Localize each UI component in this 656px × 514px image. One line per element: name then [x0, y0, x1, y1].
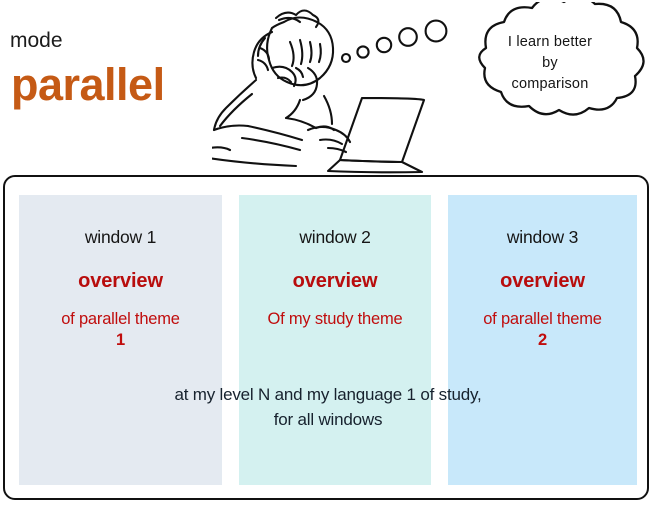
window-3-description-text: of parallel theme: [483, 310, 602, 328]
window-1-description-text: of parallel theme: [61, 310, 180, 328]
mode-label: mode: [10, 30, 63, 51]
thought-bubble-line-2: by: [470, 53, 630, 74]
window-2-title: window 2: [239, 227, 431, 247]
window-1-description: of parallel theme 1: [19, 309, 222, 351]
windows-panel: window 1 overview of parallel theme 1 wi…: [3, 175, 649, 500]
window-3-title: window 3: [448, 227, 637, 247]
thought-bubble-line-1: I learn better: [470, 32, 630, 53]
windows-columns: window 1 overview of parallel theme 1 wi…: [5, 177, 651, 502]
window-1-overview-label: overview: [19, 270, 222, 293]
window-column-3[interactable]: window 3 overview of parallel theme 2: [448, 195, 637, 485]
window-3-theme-number: 2: [448, 330, 637, 351]
window-3-overview-label: overview: [448, 270, 637, 293]
window-3-description: of parallel theme 2: [448, 309, 637, 351]
window-2-description: Of my study theme: [239, 309, 431, 330]
thought-bubble-text: I learn better by comparison: [470, 32, 630, 95]
thought-bubble-line-3: comparison: [470, 74, 630, 95]
window-1-title: window 1: [19, 227, 222, 247]
window-2-overview-label: overview: [239, 270, 431, 293]
window-1-theme-number: 1: [19, 330, 222, 351]
window-column-1[interactable]: window 1 overview of parallel theme 1: [19, 195, 222, 485]
header-section: mode parallel: [0, 0, 656, 172]
window-column-2[interactable]: window 2 overview Of my study theme: [239, 195, 431, 485]
mode-value: parallel: [11, 62, 165, 107]
window-2-description-text: Of my study theme: [267, 310, 402, 328]
